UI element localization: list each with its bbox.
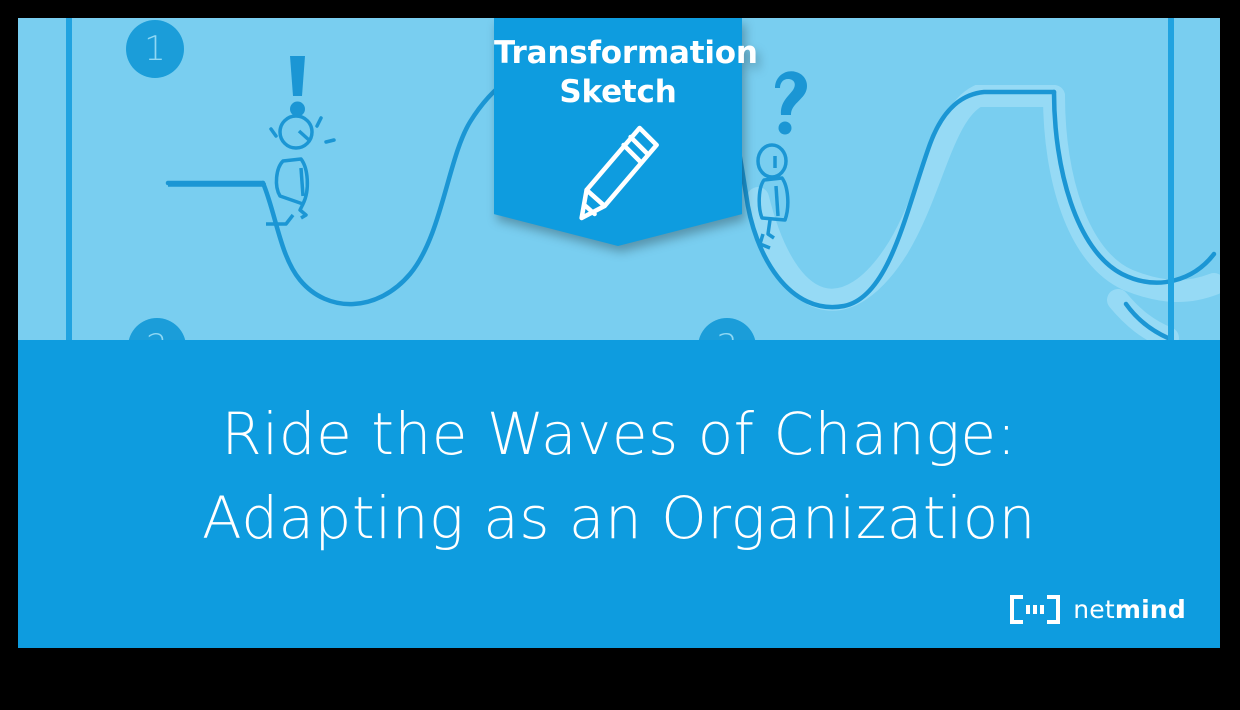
page-title: Ride the Waves of Change: Adapting as an…: [18, 392, 1220, 560]
pencil-icon: [577, 122, 667, 232]
transformation-sketch-ribbon: Transformation Sketch: [494, 18, 742, 246]
title-band: Ride the Waves of Change: Adapting as an…: [18, 340, 1220, 648]
netmind-logo: netmind: [1006, 593, 1186, 626]
ribbon-title: Transformation Sketch: [494, 34, 742, 112]
logo-bracket-icon: [1006, 593, 1064, 626]
logo-wordmark: netmind: [1073, 595, 1186, 624]
vertical-rail-right: [1168, 18, 1174, 340]
figure-exclamation: [168, 56, 334, 224]
vertical-rail-left: [66, 18, 72, 340]
step-badge-1: 1: [126, 20, 184, 78]
slide-frame: 1 2 3 Ride the Waves of Change: Adapting…: [0, 0, 1240, 710]
logo-dot: [1033, 605, 1037, 614]
figure-body: [168, 116, 312, 224]
exclamation-mark: [290, 56, 305, 117]
logo-word-net: net: [1073, 595, 1115, 624]
question-mark: [775, 71, 807, 134]
wave-halo: [758, 96, 1214, 338]
ribbon-title-line-2: Sketch: [494, 73, 742, 112]
logo-dot: [1026, 605, 1030, 614]
page-title-line-1: Ride the Waves of Change:: [18, 392, 1220, 476]
page-title-line-2: Adapting as an Organization: [18, 476, 1220, 560]
logo-word-mind: mind: [1115, 595, 1186, 624]
logo-dot: [1040, 605, 1044, 614]
ribbon-title-line-1: Transformation: [494, 34, 742, 73]
slide-canvas: 1 2 3 Ride the Waves of Change: Adapting…: [18, 18, 1220, 648]
